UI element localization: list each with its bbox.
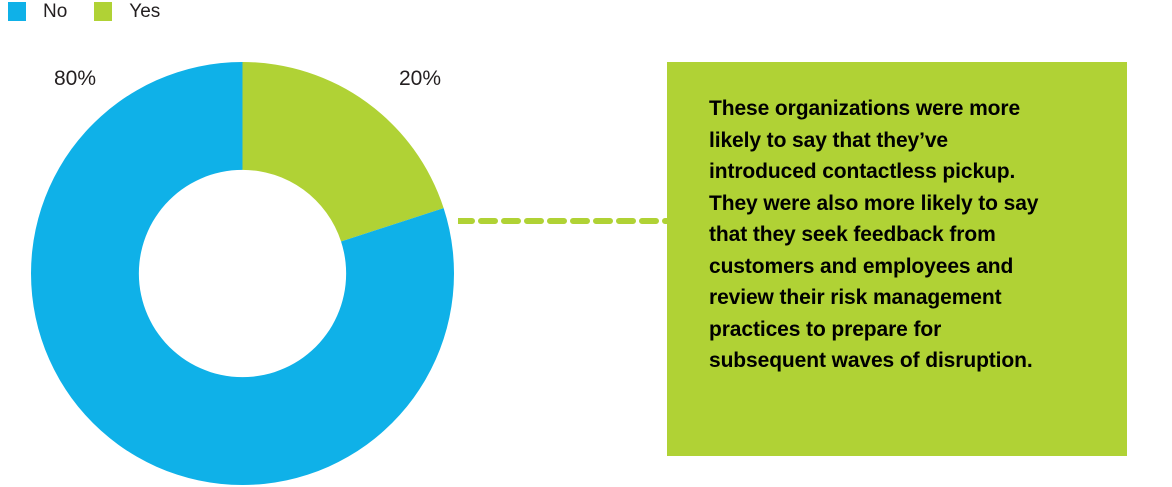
legend-swatch-yes-icon	[94, 2, 112, 21]
legend-swatch-no-icon	[8, 2, 26, 21]
data-label-yes: 20%	[399, 68, 441, 89]
donut-chart-svg	[31, 62, 454, 485]
data-label-no: 80%	[54, 68, 96, 89]
legend-item-yes: Yes	[94, 2, 160, 21]
callout-box: These organizations were more likely to …	[667, 62, 1127, 456]
callout-connector-line	[458, 217, 668, 225]
donut-chart	[31, 62, 454, 485]
legend-item-no: No	[8, 2, 67, 21]
callout-text: These organizations were more likely to …	[709, 93, 1059, 377]
dashed-line-icon	[458, 217, 668, 225]
chart-legend: No Yes	[8, 0, 187, 22]
legend-label-yes: Yes	[129, 2, 160, 21]
legend-label-no: No	[43, 2, 67, 21]
